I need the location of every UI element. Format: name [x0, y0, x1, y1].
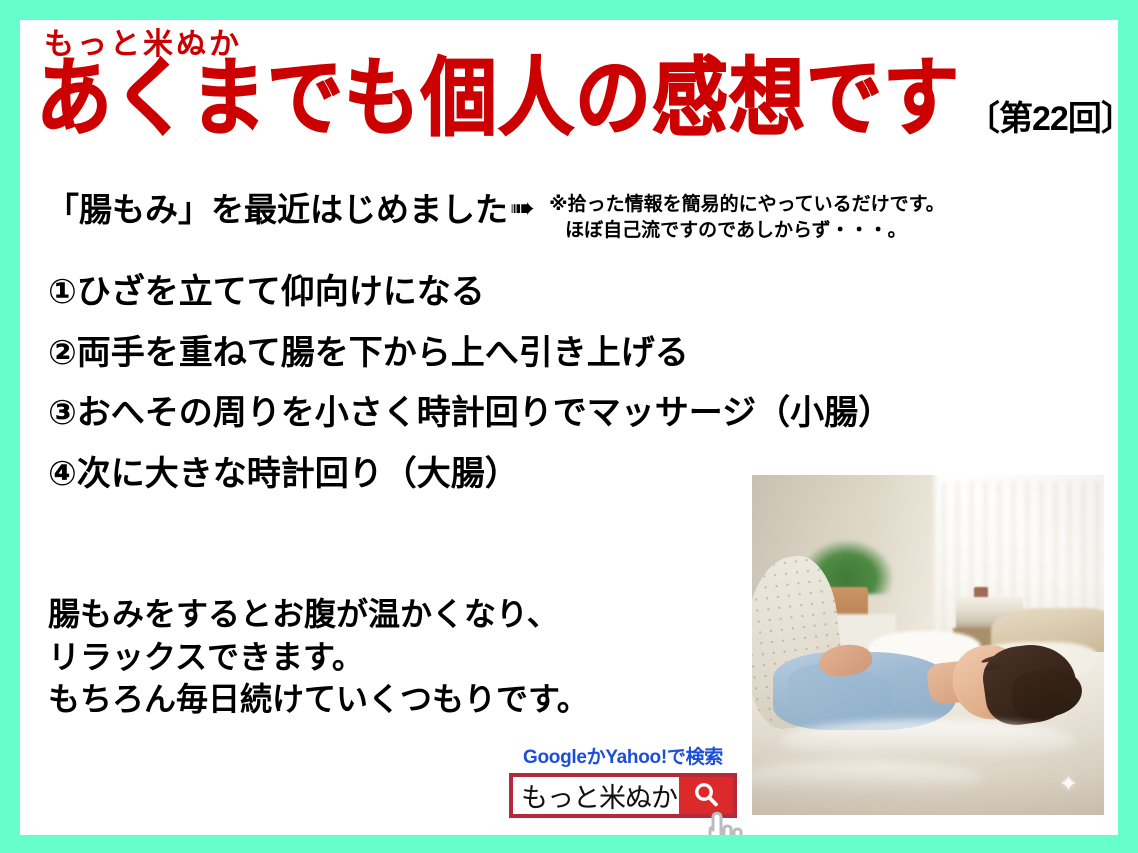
issue-number-badge: 〔第22回〕: [966, 102, 1118, 136]
search-input[interactable]: もっと米ぬか: [513, 777, 679, 814]
sparkle-ai-icon: ✦: [1057, 773, 1079, 795]
lead-headline: 「腸もみ」を最近はじめました: [46, 190, 508, 230]
list-item: ①ひざを立てて仰向けになる: [48, 275, 1088, 311]
poster-root: もっと米ぬか あくまでも個人の感想です 〔第22回〕 「腸もみ」を最近はじめまし…: [0, 0, 1138, 853]
disclaimer-note-line-2: ほぼ自己流ですのであしからず・・・。: [549, 218, 945, 244]
search-bar[interactable]: もっと米ぬか: [509, 773, 737, 818]
search-caption: GoogleかYahoo!で検索: [498, 748, 748, 769]
page-title: あくまでも個人の感想です: [36, 57, 960, 142]
closing-paragraph: 腸もみをするとお腹が温かくなり、 リラックスできます。 もちろん毎日続けていくつ…: [48, 593, 708, 721]
disclaimer-note: ※拾った情報を簡易的にやっているだけです。 ほぼ自己流ですのであしからず・・・。: [549, 192, 945, 243]
list-item: ③おへその周りを小さく時計回りでマッサージ（小腸）: [48, 396, 1088, 432]
lead-row: 「腸もみ」を最近はじめました ➠ ※拾った情報を簡易的にやっているだけです。 ほ…: [46, 190, 1106, 243]
disclaimer-note-line-1: ※拾った情報を簡易的にやっているだけです。: [549, 194, 945, 215]
closing-line: リラックスできます。: [48, 636, 708, 679]
poster-canvas: もっと米ぬか あくまでも個人の感想です 〔第22回〕 「腸もみ」を最近はじめまし…: [20, 20, 1118, 835]
right-arrow-icon: ➠: [510, 190, 535, 228]
search-icon: [691, 780, 721, 810]
closing-line: もちろん毎日続けていくつもりです。: [48, 678, 708, 721]
closing-line: 腸もみをするとお腹が温かくなり、: [48, 593, 708, 636]
photo-vignette: [752, 475, 1104, 815]
list-item: ②両手を重ねて腸を下から上へ引き上げる: [48, 336, 1088, 372]
title-row: あくまでも個人の感想です 〔第22回〕: [36, 66, 1118, 142]
bedroom-photo: ✦: [752, 475, 1104, 815]
search-button[interactable]: [679, 777, 733, 814]
search-widget: GoogleかYahoo!で検索 もっと米ぬか: [498, 748, 748, 818]
